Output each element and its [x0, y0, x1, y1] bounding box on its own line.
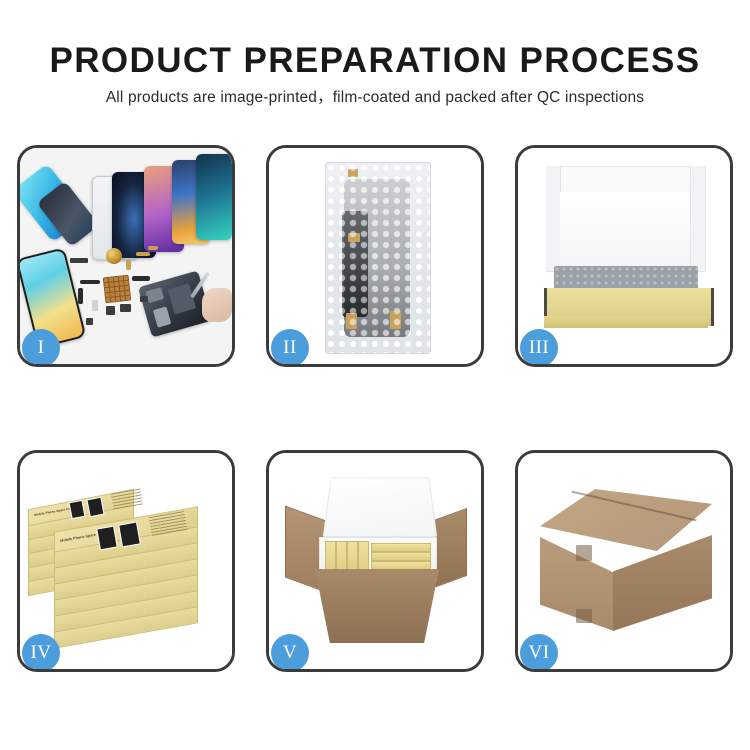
product-preparation-page: PRODUCT PREPARATION PROCESS All products…	[0, 0, 750, 750]
step-badge-4: IV	[22, 634, 60, 672]
process-step-grid: I II	[0, 0, 750, 750]
step-badge-2: II	[271, 329, 309, 367]
process-step-panel-5: V	[266, 450, 484, 672]
process-step-panel-3: III	[515, 145, 733, 367]
step-badge-1: I	[22, 329, 60, 367]
process-step-panel-2: II	[266, 145, 484, 367]
process-step-panel-4: Mobile Phone Spare Parts Mobile Phone Sp…	[17, 450, 235, 672]
step-badge-3: III	[520, 329, 558, 367]
process-step-panel-6: VI	[515, 450, 733, 672]
step-badge-5: V	[271, 634, 309, 672]
process-step-panel-1: I	[17, 145, 235, 367]
step-badge-6: VI	[520, 634, 558, 672]
